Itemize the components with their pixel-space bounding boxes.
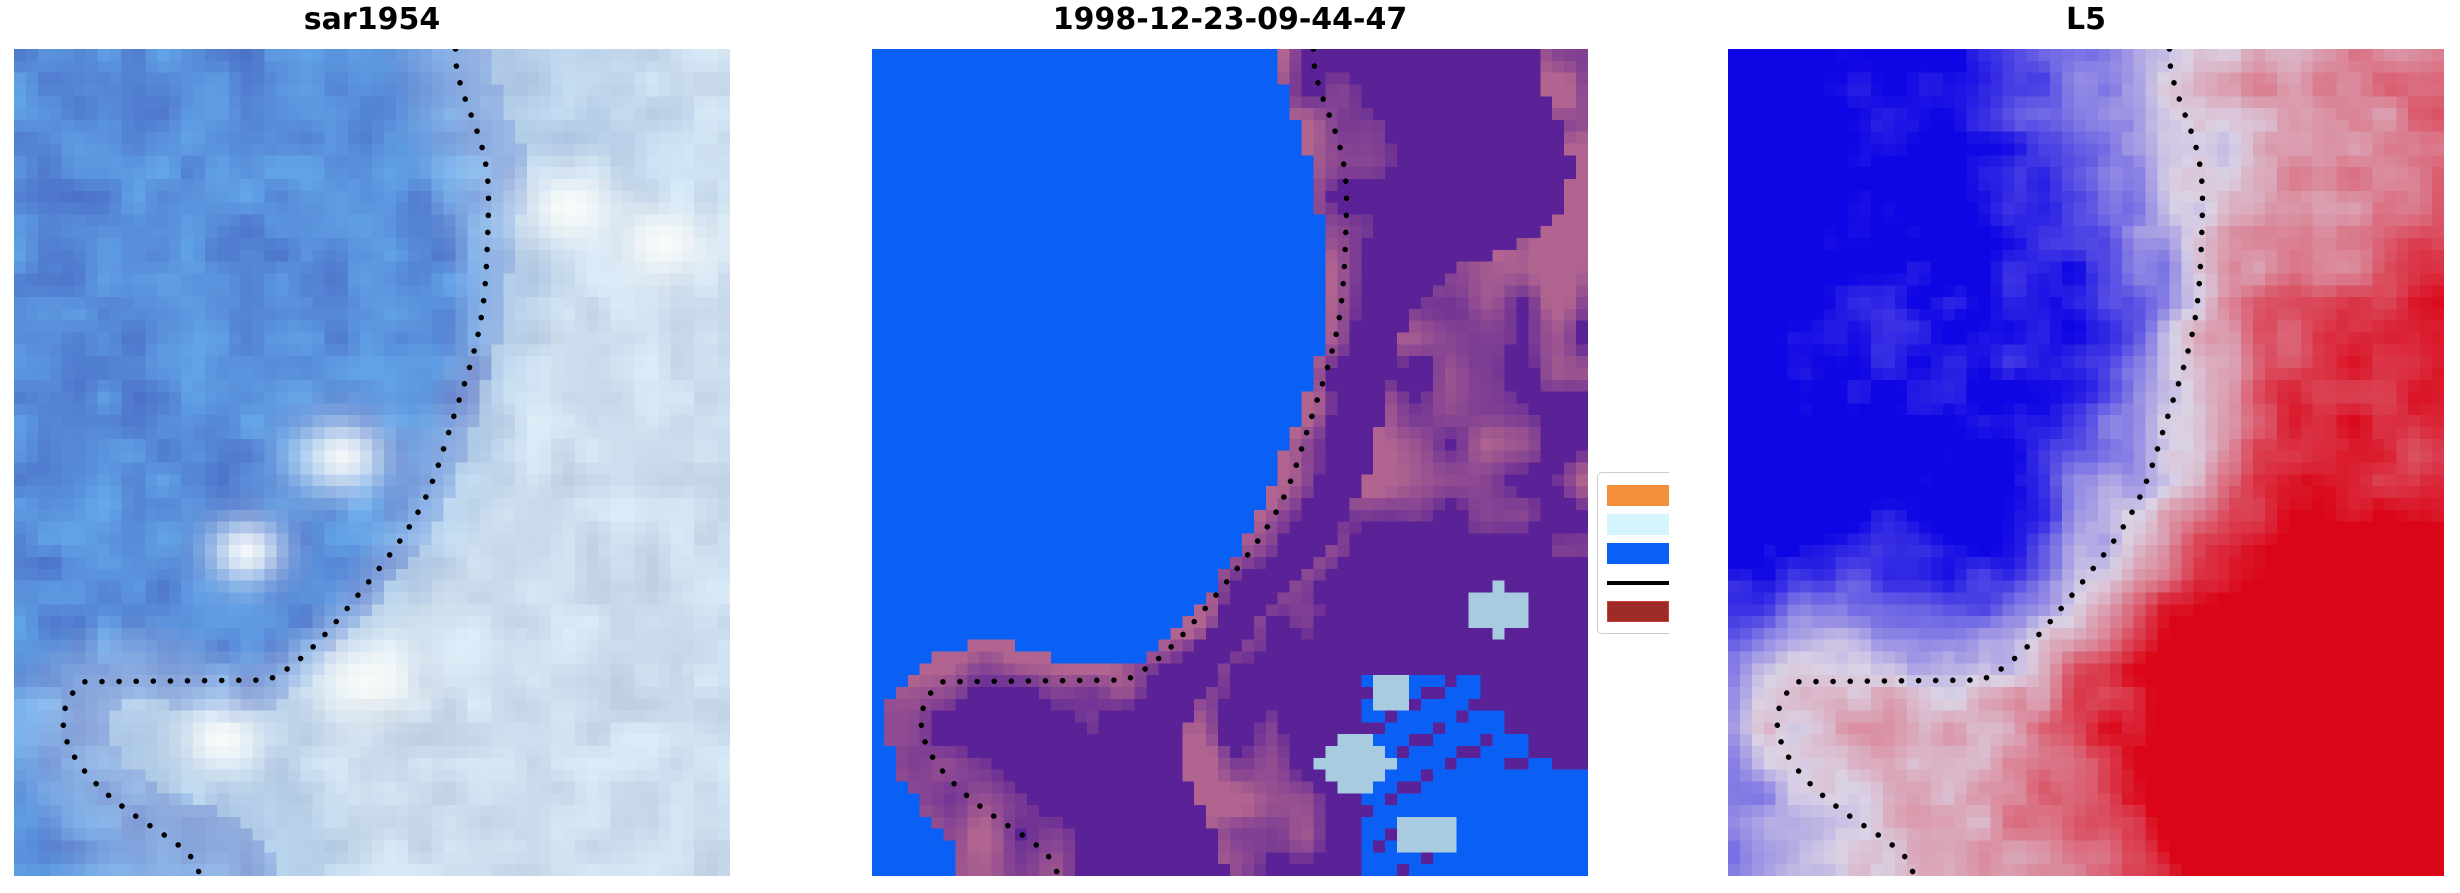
panel-title-1: sar1954 (14, 0, 730, 46)
reference-swatch-icon (1607, 601, 1669, 622)
image-panel-l5 (1728, 49, 2444, 876)
figure-canvas: sar1954 1998-12-23-09-44-47 L5 sand whit… (0, 0, 2460, 893)
image-panel-sar1954 (14, 49, 730, 876)
panel-title-2: 1998-12-23-09-44-47 (872, 0, 1588, 46)
panel-title-3: L5 (1728, 0, 2444, 46)
shoreline-overlay-2 (872, 49, 1588, 876)
shoreline-overlay-3 (1728, 49, 2444, 876)
panel-title-1-text: sar1954 (14, 0, 730, 40)
shoreline-line-icon (1607, 581, 1669, 585)
sand-swatch-icon (1607, 485, 1669, 506)
water-swatch-icon (1607, 543, 1669, 564)
whitewater-swatch-icon (1607, 514, 1669, 535)
panel-title-3-text: L5 (1728, 0, 2444, 40)
panel-title-2-text: 1998-12-23-09-44-47 (872, 0, 1588, 40)
shoreline-overlay-1 (14, 49, 730, 876)
image-panel-classification (872, 49, 1588, 876)
